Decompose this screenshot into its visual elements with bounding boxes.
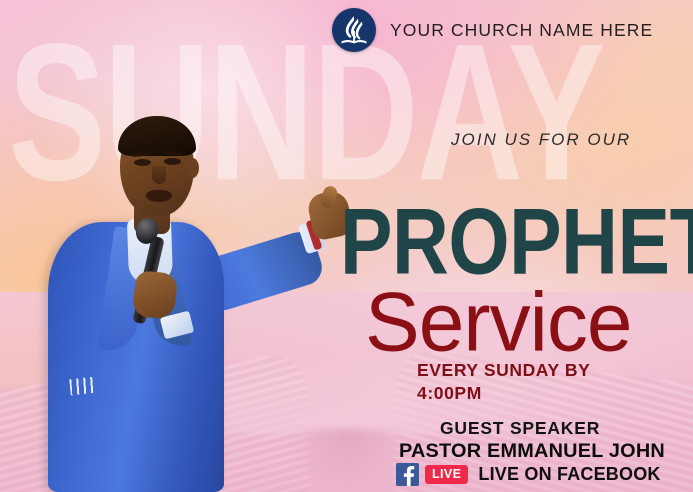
facebook-f-icon[interactable] bbox=[396, 463, 419, 486]
speaker-mouth bbox=[146, 190, 172, 202]
speaker-nose bbox=[152, 166, 166, 184]
live-badge: LIVE bbox=[425, 465, 468, 484]
eyebrow-text: JOIN US FOR OUR bbox=[451, 130, 631, 150]
live-on-facebook-text: LIVE ON FACEBOOK bbox=[478, 464, 660, 485]
speaker-cuff-buttons bbox=[69, 377, 97, 396]
page-subtitle: Service bbox=[365, 281, 631, 365]
guest-speaker-name: PASTOR EMMANUEL JOHN bbox=[399, 440, 665, 463]
schedule-info: EVERY SUNDAY BY 4:00PM bbox=[417, 359, 590, 405]
speaker-eye-left bbox=[134, 159, 151, 166]
flyer-header: YOUR CHURCH NAME HERE bbox=[332, 8, 653, 52]
schedule-time: 4:00PM bbox=[417, 382, 590, 405]
speaker-ear bbox=[186, 158, 199, 178]
church-service-flyer: SUNDAY bbox=[0, 0, 693, 492]
facebook-live-row[interactable]: LIVE LIVE ON FACEBOOK bbox=[396, 463, 661, 486]
church-name: YOUR CHURCH NAME HERE bbox=[390, 20, 653, 41]
speaker-photo bbox=[10, 96, 350, 492]
flame-book-logo-glyph bbox=[339, 15, 369, 47]
speaker-eye-right bbox=[164, 158, 181, 165]
schedule-day: EVERY SUNDAY BY bbox=[417, 359, 590, 382]
guest-speaker-label: GUEST SPEAKER bbox=[440, 418, 600, 439]
facebook-f-glyph bbox=[396, 463, 419, 486]
flame-book-logo-icon bbox=[332, 8, 376, 52]
speaker-hair bbox=[118, 116, 196, 156]
